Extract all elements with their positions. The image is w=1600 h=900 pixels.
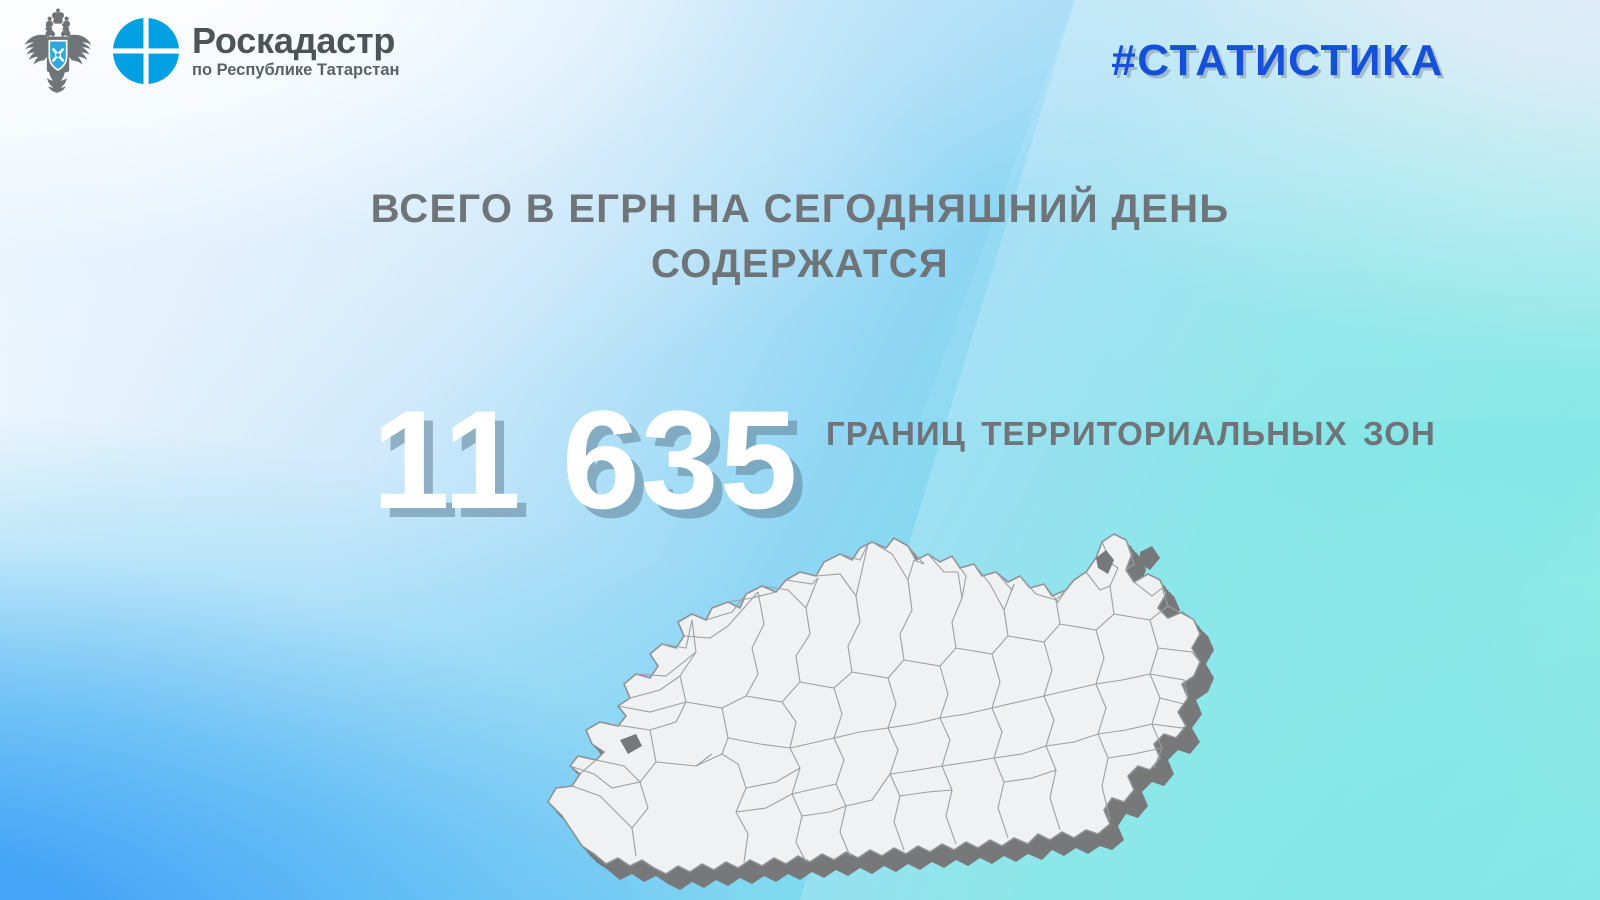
statistic-label: ГРАНИЦ ТЕРРИТОРИАЛЬНЫХ ЗОН bbox=[826, 411, 1436, 458]
brand-wordmark: Роскадастр по Республике Татарстан bbox=[192, 23, 400, 80]
statistic-value: 11 635 bbox=[372, 390, 798, 530]
page-title-line-2: СОДЕРЖАТСЯ bbox=[651, 242, 949, 286]
statistic-row: 11 635 ГРАНИЦ ТЕРРИТОРИАЛЬНЫХ ЗОН bbox=[0, 395, 1600, 525]
page-title: ВСЕГО В ЕГРН НА СЕГОДНЯШНИЙ ДЕНЬ СОДЕРЖА… bbox=[300, 182, 1300, 292]
page-title-line-1: ВСЕГО В ЕГРН НА СЕГОДНЯШНИЙ ДЕНЬ bbox=[371, 187, 1230, 231]
roskadastr-circle-mark-icon bbox=[110, 15, 182, 87]
brand-name: Роскадастр bbox=[192, 23, 400, 60]
statistic-label-text: ГРАНИЦ ТЕРРИТОРИАЛЬНЫХ ЗОН bbox=[826, 411, 1436, 458]
rosreestr-eagle-icon bbox=[16, 8, 100, 94]
brand-region: по Республике Татарстан bbox=[192, 61, 400, 79]
tatarstan-map bbox=[500, 516, 1240, 900]
map-face bbox=[548, 534, 1200, 874]
brand-logo: Роскадастр по Республике Татарстан bbox=[16, 8, 400, 94]
infographic-slide: Роскадастр по Республике Татарстан #СТАТ… bbox=[0, 0, 1600, 900]
hashtag-label: #СТАТИСТИКА bbox=[1111, 36, 1444, 86]
